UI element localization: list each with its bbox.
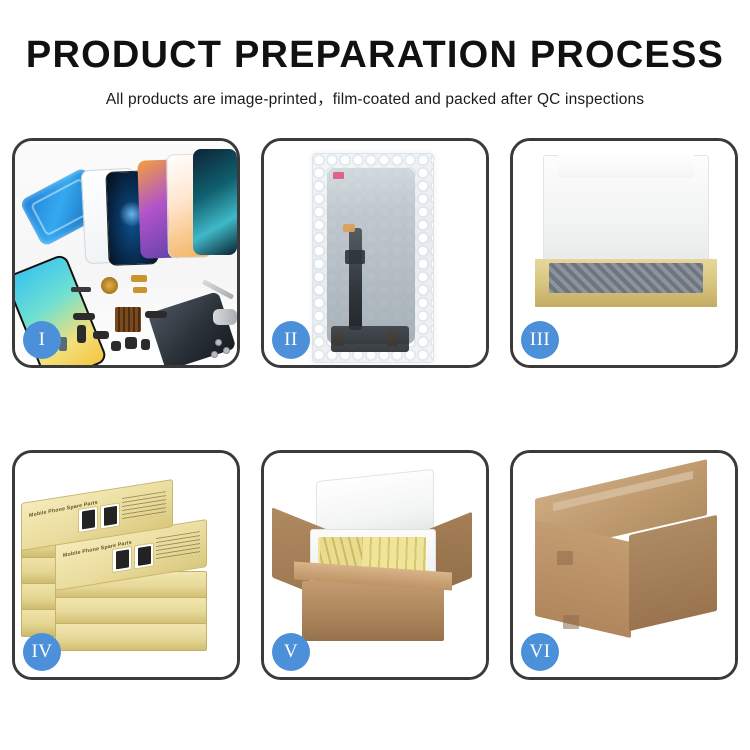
screwdriver-tool <box>213 309 237 325</box>
retail-box-stack: Mobile Phone Spare Parts Mobile Phone Sp… <box>21 479 233 661</box>
flex-cable-1 <box>73 313 95 320</box>
speaker-component <box>101 277 118 294</box>
grey-foam-padding <box>549 263 703 293</box>
step-badge-3: III <box>521 321 559 359</box>
step-1-image: I <box>15 141 237 365</box>
product-preparation-infographic: PRODUCT PREPARATION PROCESS All products… <box>0 0 750 750</box>
step-badge-4: IV <box>23 633 61 671</box>
box-window-front-2 <box>100 502 120 529</box>
kraft-inner-box <box>535 259 717 307</box>
bubble-wrap-bag <box>312 153 434 363</box>
screw-2 <box>223 347 230 354</box>
gold-contact-flex <box>131 275 147 282</box>
step-3-image: III <box>513 141 735 365</box>
box-window-back-2 <box>134 542 154 569</box>
box-window-back-1 <box>112 546 132 573</box>
step-badge-6: VI <box>521 633 559 671</box>
battery-connector <box>141 339 150 350</box>
flex-cable-4 <box>145 311 167 318</box>
screw-3 <box>211 351 218 358</box>
carton-seam-tab-top <box>557 551 573 565</box>
page-title: PRODUCT PREPARATION PROCESS <box>0 0 750 76</box>
step-panel-6[interactable]: VI <box>510 450 738 680</box>
stack-box-back-3 <box>55 623 207 651</box>
lcd-screen <box>327 168 415 344</box>
camera-module <box>125 337 137 349</box>
flex-cable-2 <box>77 325 86 343</box>
steps-grid: I II <box>12 138 738 686</box>
step-badge-2: II <box>272 321 310 359</box>
step-panel-2[interactable]: II <box>261 138 489 368</box>
flex-cable-3 <box>93 331 109 339</box>
box-spec-lines-back <box>156 531 200 562</box>
step-panel-5[interactable]: V <box>261 450 489 680</box>
step-panel-1[interactable]: I <box>12 138 240 368</box>
white-foam-sheet <box>543 155 709 275</box>
step-panel-4[interactable]: Mobile Phone Spare Parts Mobile Phone Sp… <box>12 450 240 680</box>
step-4-image: Mobile Phone Spare Parts Mobile Phone Sp… <box>15 453 237 677</box>
step-6-image: VI <box>513 453 735 677</box>
box-spec-lines-front <box>122 491 166 522</box>
step-panel-3[interactable]: III <box>510 138 738 368</box>
step-badge-5: V <box>272 633 310 671</box>
page-subtitle: All products are image-printed，film-coat… <box>0 76 750 109</box>
gold-contact-flex-2 <box>133 287 147 293</box>
carton-front-panel <box>302 581 444 641</box>
step-2-image: II <box>264 141 486 365</box>
carton-left-face <box>535 520 631 638</box>
step-badge-1: I <box>23 321 61 359</box>
phone-display-teal <box>193 149 237 255</box>
carton-seam-tab-bottom <box>563 615 579 629</box>
earpiece-mesh <box>71 287 91 292</box>
screw-1 <box>215 339 222 346</box>
stack-box-back-2 <box>55 597 207 625</box>
protective-tab-1 <box>343 224 355 232</box>
step-5-image: V <box>264 453 486 677</box>
vibrator-motor <box>111 341 121 351</box>
qc-sticker <box>333 172 344 179</box>
phone-back-housing <box>148 291 237 365</box>
logic-board-component <box>115 307 141 332</box>
carton-right-face <box>629 515 717 631</box>
lcd-connector-area <box>331 326 409 352</box>
lcd-driver-ic <box>345 250 365 264</box>
box-window-front-1 <box>78 506 98 533</box>
lcd-flex-cable <box>349 228 362 330</box>
header: PRODUCT PREPARATION PROCESS All products… <box>0 0 750 109</box>
